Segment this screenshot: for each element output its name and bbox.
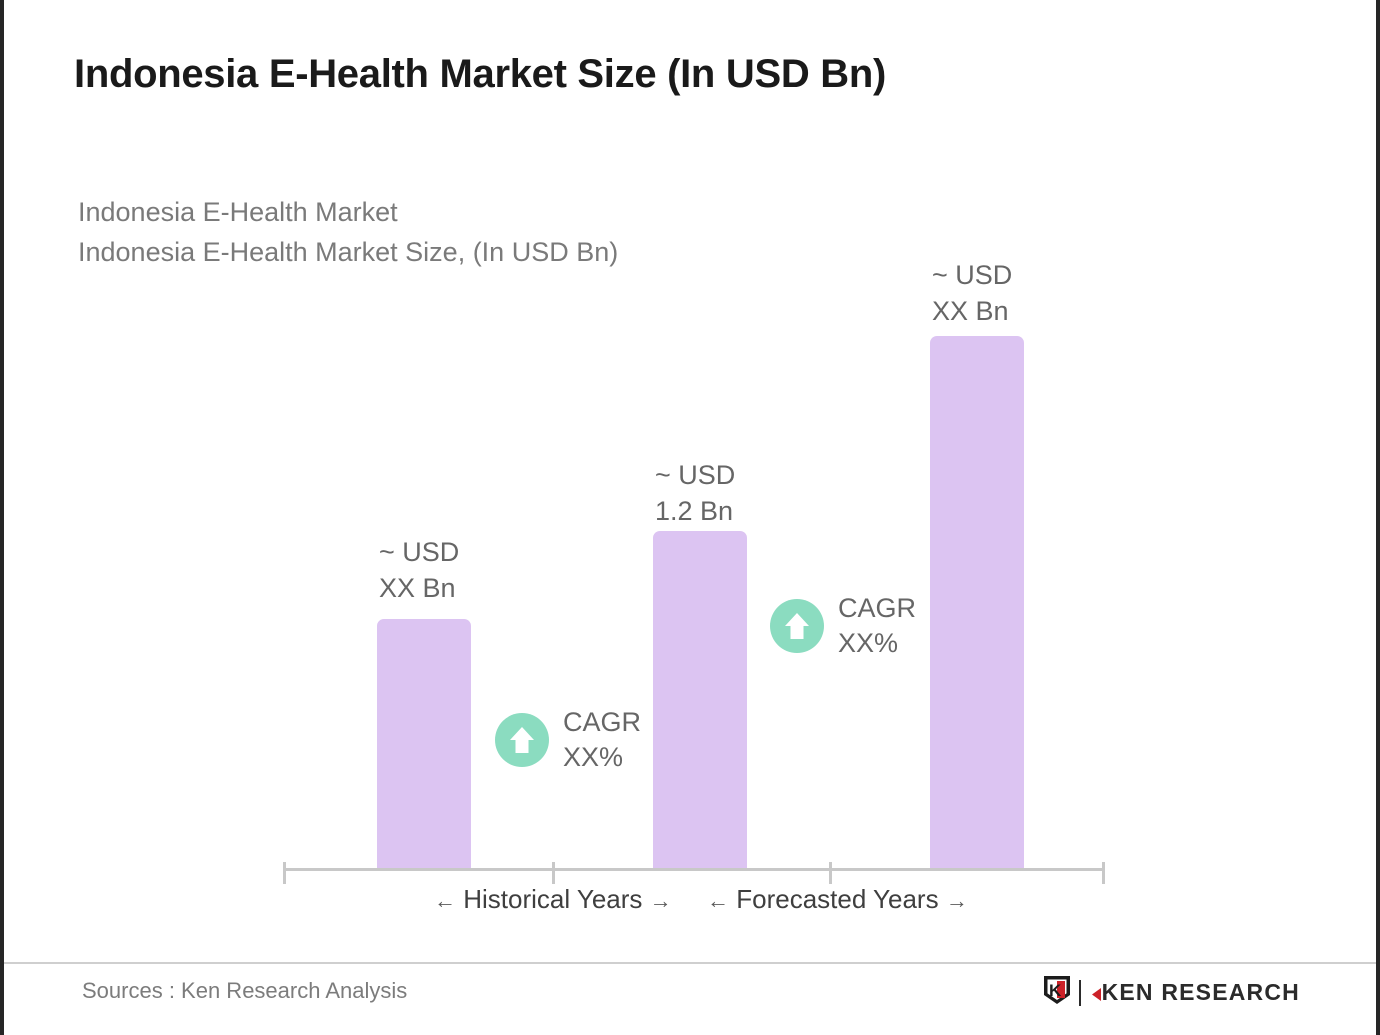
x-axis-tick-end — [1102, 862, 1105, 884]
bar-value-label-forecast-line-1: ~ USD — [932, 257, 1012, 293]
arrow-up-icon — [770, 599, 824, 653]
axis-range-label-forecasted: ← Forecasted Years → — [707, 884, 968, 915]
ken-research-logo: K KEN RESEARCH — [1042, 974, 1300, 1011]
arrow-right-icon: → — [946, 888, 968, 913]
sources-text: Sources : Ken Research Analysis — [82, 978, 407, 1004]
axis-range-label-historical: ← Historical Years → — [434, 884, 672, 915]
cagr-label-base-to-forecast: CAGR XX% — [838, 591, 916, 661]
bar-base[interactable] — [653, 531, 747, 869]
arrow-up-icon — [495, 713, 549, 767]
x-axis-tick-mid-right — [829, 862, 832, 884]
bar-value-label-historical-line-1: ~ USD — [379, 534, 459, 570]
cagr-label-base-to-forecast-line-2: XX% — [838, 626, 916, 661]
arrow-left-icon: ← — [434, 888, 456, 913]
bar-historical[interactable] — [377, 619, 471, 869]
bar-value-label-historical-line-2: XX Bn — [379, 570, 459, 606]
bar-value-label-base: ~ USD 1.2 Bn — [655, 457, 735, 529]
bar-value-label-base-line-1: ~ USD — [655, 457, 735, 493]
bar-value-label-forecast: ~ USD XX Bn — [932, 257, 1012, 329]
x-axis-tick-mid-left — [552, 862, 555, 884]
x-axis-tick-start — [283, 862, 286, 884]
cagr-label-historical-to-base-line-2: XX% — [563, 740, 641, 775]
axis-range-label-forecasted-text: Forecasted Years — [736, 884, 938, 914]
cagr-badge-base-to-forecast[interactable]: CAGR XX% — [770, 591, 916, 661]
bar-forecast[interactable] — [930, 336, 1024, 869]
arrow-left-icon: ← — [707, 888, 729, 913]
ken-shield-icon: K — [1042, 974, 1072, 1011]
logo-wordmark-text: KEN RESEARCH — [1102, 979, 1300, 1005]
bar-chart-plot-area: ~ USD XX Bn ~ USD 1.2 Bn ~ USD XX Bn CAG… — [4, 0, 1380, 1035]
cagr-label-historical-to-base-line-1: CAGR — [563, 705, 641, 740]
cagr-label-historical-to-base: CAGR XX% — [563, 705, 641, 775]
axis-range-label-historical-text: Historical Years — [463, 884, 642, 914]
slide-canvas: Indonesia E-Health Market Size (In USD B… — [0, 0, 1380, 1035]
x-axis-line — [283, 868, 1104, 871]
arrow-right-icon: → — [650, 888, 672, 913]
cagr-badge-historical-to-base[interactable]: CAGR XX% — [495, 705, 641, 775]
cagr-label-base-to-forecast-line-1: CAGR — [838, 591, 916, 626]
bar-value-label-forecast-line-2: XX Bn — [932, 293, 1012, 329]
logo-wordmark: KEN RESEARCH — [1090, 979, 1300, 1006]
logo-divider — [1079, 980, 1081, 1006]
logo-red-triangle-icon — [1090, 987, 1102, 1002]
footer-divider — [4, 962, 1380, 964]
bar-value-label-base-line-2: 1.2 Bn — [655, 493, 735, 529]
bar-value-label-historical: ~ USD XX Bn — [379, 534, 459, 606]
svg-text:K: K — [1049, 981, 1062, 1000]
